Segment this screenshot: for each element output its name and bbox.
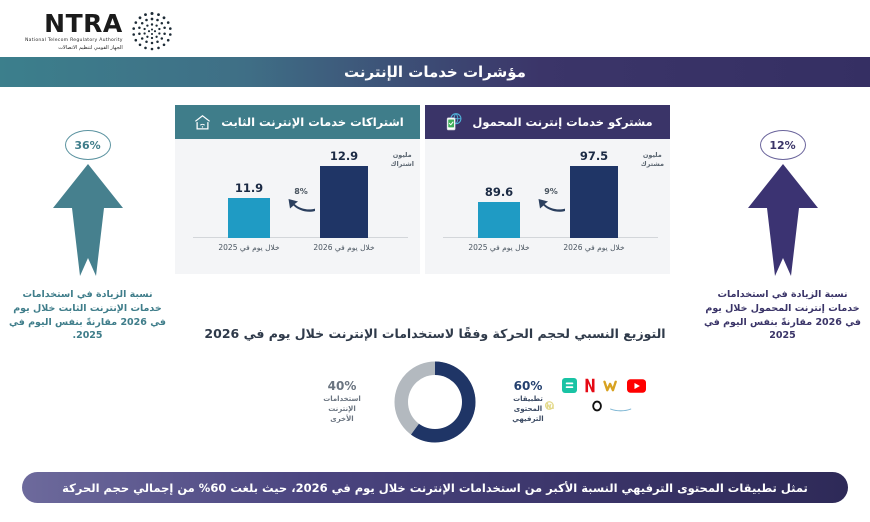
mobile-up-arrow-icon [695,162,870,284]
donut-entertainment-label-line1: تطبيقات [513,395,543,403]
donut-other-percent: 40% [306,379,378,393]
logo-subtitle-en: National Telecom Regulatory Authority [25,38,123,44]
svg-text:viu: viu [545,402,554,411]
panel-fixed-internet-title: اشتراكات خدمات الإنترنت الثابت [221,115,403,129]
mobile-y-axis-label: مليون مشترك [641,151,664,169]
panel-fixed-internet: اشتراكات خدمات الإنترنت الثابت مليون اشت… [175,105,420,274]
panel-mobile-internet: مشتركو خدمات إنترنت المحمول مليون مشترك … [425,105,670,274]
donut-legend-other: 40% استخدامات الإنترنت الأخرى [306,379,378,424]
hbo-icon: HB [578,398,602,413]
donut-other-label-line3: الأخرى [330,415,353,423]
callout-fixed-usage-growth: 36% نسبة الزيادة في استخدامات خدمات الإن… [0,130,175,343]
donut-entertainment-label-line2: المحتوى [514,405,542,413]
mobile-growth-badge: 12% [760,130,806,160]
mobile-growth-indicator: 9% [536,187,566,219]
viu-icon: viu [545,398,571,413]
svg-text:prime video: prime video [609,402,610,408]
mobile-bar-2025: 89.6 خلال يوم في 2025 [478,202,520,238]
panel-mobile-internet-title: مشتركو خدمات إنترنت المحمول [472,115,652,129]
shahid-icon [562,378,577,393]
home-wifi-icon [191,111,213,133]
fixed-axis-line [193,237,408,238]
fixed-bar-2026-category: خلال يوم في 2026 [313,243,374,252]
mobile-bar-2025-value: 89.6 [485,185,513,199]
fixed-y-axis-label: مليون اشتراك [390,151,414,169]
mobile-axis-line [443,237,658,238]
donut-other-label-line2: الإنترنت [328,405,356,413]
panel-fixed-internet-header: اشتراكات خدمات الإنترنت الثابت [175,105,420,139]
callout-mobile-usage-growth: 12% نسبة الزيادة في استخدامات خدمات إنتر… [695,130,870,343]
panel-mobile-internet-header: مشتركو خدمات إنترنت المحمول [425,105,670,139]
mobile-bar-2026-value: 97.5 [580,149,608,163]
watchit-icon [603,378,620,393]
mobile-globe-icon [442,111,464,133]
fixed-growth-value: 8% [286,187,316,196]
bottom-summary-banner: تمثل تطبيقات المحتوى الترفيهي النسبة الأ… [22,472,848,503]
logo-subtitle-ar: الجهاز القومي لتنظيم الاتصالات [25,45,123,51]
mobile-growth-arrow-icon [536,200,566,219]
ntra-logo: NTRA National Telecom Regulatory Authori… [25,8,175,54]
mobile-bar-2025-category: خلال يوم في 2025 [468,243,529,252]
fixed-y-axis-label-line2: اشتراك [390,160,414,168]
panel-mobile-internet-chart: مليون مشترك 97.5 خلال يوم في 2026 89.6 خ… [425,139,670,274]
fixed-up-arrow-icon [0,162,175,284]
panel-fixed-internet-chart: مليون اشتراك 12.9 خلال يوم في 2026 11.9 … [175,139,420,274]
donut-center [408,375,462,429]
brand-row-1 [545,378,646,393]
mobile-bar-2026: 97.5 خلال يوم في 2026 [570,166,618,238]
donut-other-label: استخدامات الإنترنت الأخرى [306,395,378,424]
logo-wordmark: NTRA [25,11,123,36]
mobile-bar-2026-category: خلال يوم في 2026 [563,243,624,252]
fixed-y-axis-label-line1: مليون [393,151,412,159]
infographic-page: NTRA National Telecom Regulatory Authori… [0,0,870,522]
youtube-icon [627,378,646,393]
fixed-bar-2025-value: 11.9 [235,181,263,195]
fixed-growth-arrow-icon [286,200,316,219]
mobile-growth-value: 9% [536,187,566,196]
fixed-bar-2026-value: 12.9 [330,149,358,163]
donut-chart [392,359,478,445]
brand-row-2: prime video HB viu [545,398,646,413]
fixed-bar-2025-category: خلال يوم في 2025 [218,243,279,252]
donut-other-label-line1: استخدامات [323,395,361,403]
donut-section-title: التوزيع النسبي لحجم الحركة وفقًا لاستخدا… [0,326,870,341]
mobile-y-axis-label-line2: مشترك [641,160,664,168]
ntra-spiral-icon [129,8,175,54]
bottom-summary-text: تمثل تطبيقات المحتوى الترفيهي النسبة الأ… [62,481,808,495]
page-title-bar: مؤشرات خدمات الإنترنت [0,57,870,87]
fixed-bar-2026: 12.9 خلال يوم في 2026 [320,166,368,238]
mobile-y-axis-label-line1: مليون [643,151,662,159]
streaming-brand-logos: prime video HB viu [545,378,646,413]
fixed-growth-badge: 36% [65,130,111,160]
fixed-growth-indicator: 8% [286,187,316,219]
fixed-bar-2025: 11.9 خلال يوم في 2025 [228,198,270,238]
page-title: مؤشرات خدمات الإنترنت [344,63,526,81]
netflix-icon [584,378,596,393]
prime-video-icon: prime video [609,398,646,413]
donut-entertainment-label-line3: الترفيهي [512,415,543,423]
